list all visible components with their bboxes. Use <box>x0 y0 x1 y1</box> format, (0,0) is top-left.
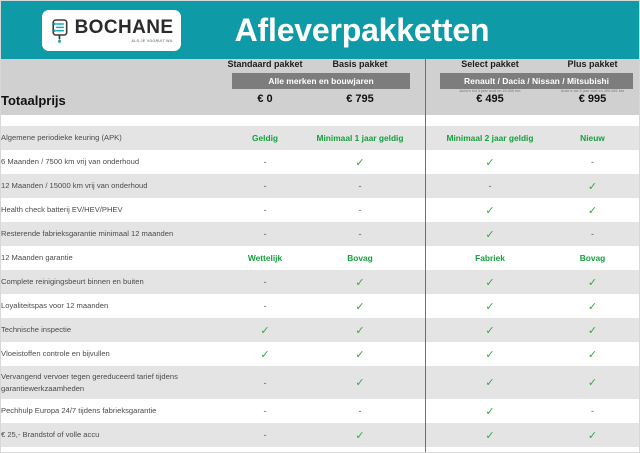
cell-select: ✓ <box>434 198 546 222</box>
feature-rows-body: Algemene periodieke keuring (APK)GeldigM… <box>1 126 639 447</box>
cell-standaard: - <box>226 423 304 447</box>
totaalprijs-row: Totaalprijs € 0 € 795 € 495 € 995 <box>1 93 639 115</box>
cell-plus: ✓ <box>546 270 639 294</box>
cell-plus: ✓ <box>546 318 639 342</box>
cell-standaard: ✓ <box>226 318 304 342</box>
table-row: 12 Maanden / 15000 km vrij van onderhoud… <box>1 174 639 198</box>
package-name-basis: Basis pakket <box>304 59 416 69</box>
page-header: BOCHANE ALS JE VOORUIT WIL Afleverpakket… <box>1 1 639 59</box>
cell-basis: - <box>304 222 416 246</box>
cell-standaard: - <box>226 150 304 174</box>
cell-select: ✓ <box>434 270 546 294</box>
cell-select: ✓ <box>434 423 546 447</box>
feature-label: Complete reinigingsbeurt binnen en buite… <box>1 270 226 294</box>
table-row: Vloeistoffen controle en bijvullen✓✓✓✓ <box>1 342 639 366</box>
cell-basis: - <box>304 174 416 198</box>
feature-label: Pechhulp Europa 24/7 tijdens fabrieksgar… <box>1 399 226 423</box>
row-divider <box>416 222 434 246</box>
header-spacer-row <box>1 115 639 126</box>
cell-plus: ✓ <box>546 366 639 399</box>
divider-spacer <box>416 115 434 126</box>
package-name-plus: Plus pakket <box>546 59 639 69</box>
cell-select: ✓ <box>434 366 546 399</box>
row-divider <box>416 270 434 294</box>
row-divider <box>416 150 434 174</box>
cell-plus: - <box>546 150 639 174</box>
table-row: 12 Maanden garantieWettelijkBovagFabriek… <box>1 246 639 270</box>
brand-bar-right: Renault / Dacia / Nissan / Mitsubishi <box>440 73 633 89</box>
cell-basis: - <box>304 198 416 222</box>
cell-basis: ✓ <box>304 423 416 447</box>
table-row: Pechhulp Europa 24/7 tijdens fabrieksgar… <box>1 399 639 423</box>
cell-plus: ✓ <box>546 294 639 318</box>
row-divider <box>416 366 434 399</box>
cell-plus: ✓ <box>546 423 639 447</box>
cell-select: Minimaal 2 jaar geldig <box>434 126 546 150</box>
cell-basis: ✓ <box>304 294 416 318</box>
bottom-spacer-row <box>1 447 639 453</box>
cell-basis: Bovag <box>304 246 416 270</box>
cell-basis: ✓ <box>304 366 416 399</box>
cell-standaard: Geldig <box>226 126 304 150</box>
table-row: Algemene periodieke keuring (APK)GeldigM… <box>1 126 639 150</box>
cell-select: ✓ <box>434 342 546 366</box>
row-divider <box>416 174 434 198</box>
cell-standaard: - <box>226 399 304 423</box>
feature-label: Loyaliteitspas voor 12 maanden <box>1 294 226 318</box>
cell-basis: - <box>304 399 416 423</box>
feature-label: 12 Maanden garantie <box>1 246 226 270</box>
cell-standaard: - <box>226 198 304 222</box>
cell-plus: ✓ <box>546 174 639 198</box>
cell-select: - <box>434 174 546 198</box>
afleverpakketten-page: BOCHANE ALS JE VOORUIT WIL Afleverpakket… <box>0 0 640 453</box>
cell-select: Fabriek <box>434 246 546 270</box>
package-name-standaard: Standaard pakket <box>226 59 304 69</box>
table-row: Complete reinigingsbeurt binnen en buite… <box>1 270 639 294</box>
divider-bottom-spacer <box>416 447 434 453</box>
page-title: Afleverpakketten <box>1 12 639 49</box>
brand-bar-left: Alle merken en bouwjaren <box>232 73 410 89</box>
cell-standaard: - <box>226 222 304 246</box>
cell-select: ✓ <box>434 399 546 423</box>
feature-label: Algemene periodieke keuring (APK) <box>1 126 226 150</box>
row-divider <box>416 126 434 150</box>
feature-label: € 25,- Brandstof of volle accu <box>1 423 226 447</box>
cell-plus: Bovag <box>546 246 639 270</box>
cell-select: ✓ <box>434 150 546 174</box>
price-basis: € 795 <box>304 93 416 115</box>
cell-plus: - <box>546 399 639 423</box>
row-divider <box>416 342 434 366</box>
table-row: Resterende fabrieksgarantie minimaal 12 … <box>1 222 639 246</box>
feature-label: Technische inspectie <box>1 318 226 342</box>
table-row: Health check batterij EV/HEV/PHEV--✓✓ <box>1 198 639 222</box>
brand-bar-right-cell: Renault / Dacia / Nissan / Mitsubishi <box>434 69 639 89</box>
feature-label: Vervangend vervoer tegen gereduceerd tar… <box>1 366 226 399</box>
cell-plus: - <box>546 222 639 246</box>
package-name-select: Select pakket <box>434 59 546 69</box>
column-group-divider <box>416 59 434 115</box>
table-row: Loyaliteitspas voor 12 maanden-✓✓✓ <box>1 294 639 318</box>
package-names-row: Standaard pakket Basis pakket Select pak… <box>1 59 639 69</box>
cell-plus: ✓ <box>546 198 639 222</box>
table-row: Technische inspectie✓✓✓✓ <box>1 318 639 342</box>
cell-basis: ✓ <box>304 150 416 174</box>
cell-select: ✓ <box>434 318 546 342</box>
table-row: € 25,- Brandstof of volle accu-✓✓✓ <box>1 423 639 447</box>
cell-plus: Nieuw <box>546 126 639 150</box>
price-standaard: € 0 <box>226 93 304 115</box>
cell-basis: ✓ <box>304 318 416 342</box>
cell-standaard: - <box>226 366 304 399</box>
packages-comparison-table: Standaard pakket Basis pakket Select pak… <box>1 59 639 453</box>
cell-basis: ✓ <box>304 270 416 294</box>
row-divider <box>416 246 434 270</box>
feature-label: 12 Maanden / 15000 km vrij van onderhoud <box>1 174 226 198</box>
cell-standaard: - <box>226 174 304 198</box>
feature-label: Health check batterij EV/HEV/PHEV <box>1 198 226 222</box>
cell-basis: ✓ <box>304 342 416 366</box>
row-divider <box>416 198 434 222</box>
row-divider <box>416 294 434 318</box>
cell-standaard: - <box>226 270 304 294</box>
totaalprijs-label: Totaalprijs <box>1 93 226 115</box>
cell-plus: ✓ <box>546 342 639 366</box>
feature-label: Resterende fabrieksgarantie minimaal 12 … <box>1 222 226 246</box>
cell-select: ✓ <box>434 222 546 246</box>
table-corner <box>1 59 226 93</box>
row-divider <box>416 318 434 342</box>
feature-label: Vloeistoffen controle en bijvullen <box>1 342 226 366</box>
feature-label: 6 Maanden / 7500 km vrij van onderhoud <box>1 150 226 174</box>
table-row: 6 Maanden / 7500 km vrij van onderhoud-✓… <box>1 150 639 174</box>
brand-bar-left-cell: Alle merken en bouwjaren <box>226 69 416 89</box>
table-row: Vervangend vervoer tegen gereduceerd tar… <box>1 366 639 399</box>
price-select: € 495 <box>434 93 546 115</box>
row-divider <box>416 399 434 423</box>
cell-standaard: Wettelijk <box>226 246 304 270</box>
cell-select: ✓ <box>434 294 546 318</box>
price-plus: € 995 <box>546 93 639 115</box>
cell-standaard: - <box>226 294 304 318</box>
row-divider <box>416 423 434 447</box>
cell-standaard: ✓ <box>226 342 304 366</box>
cell-basis: Minimaal 1 jaar geldig <box>304 126 416 150</box>
